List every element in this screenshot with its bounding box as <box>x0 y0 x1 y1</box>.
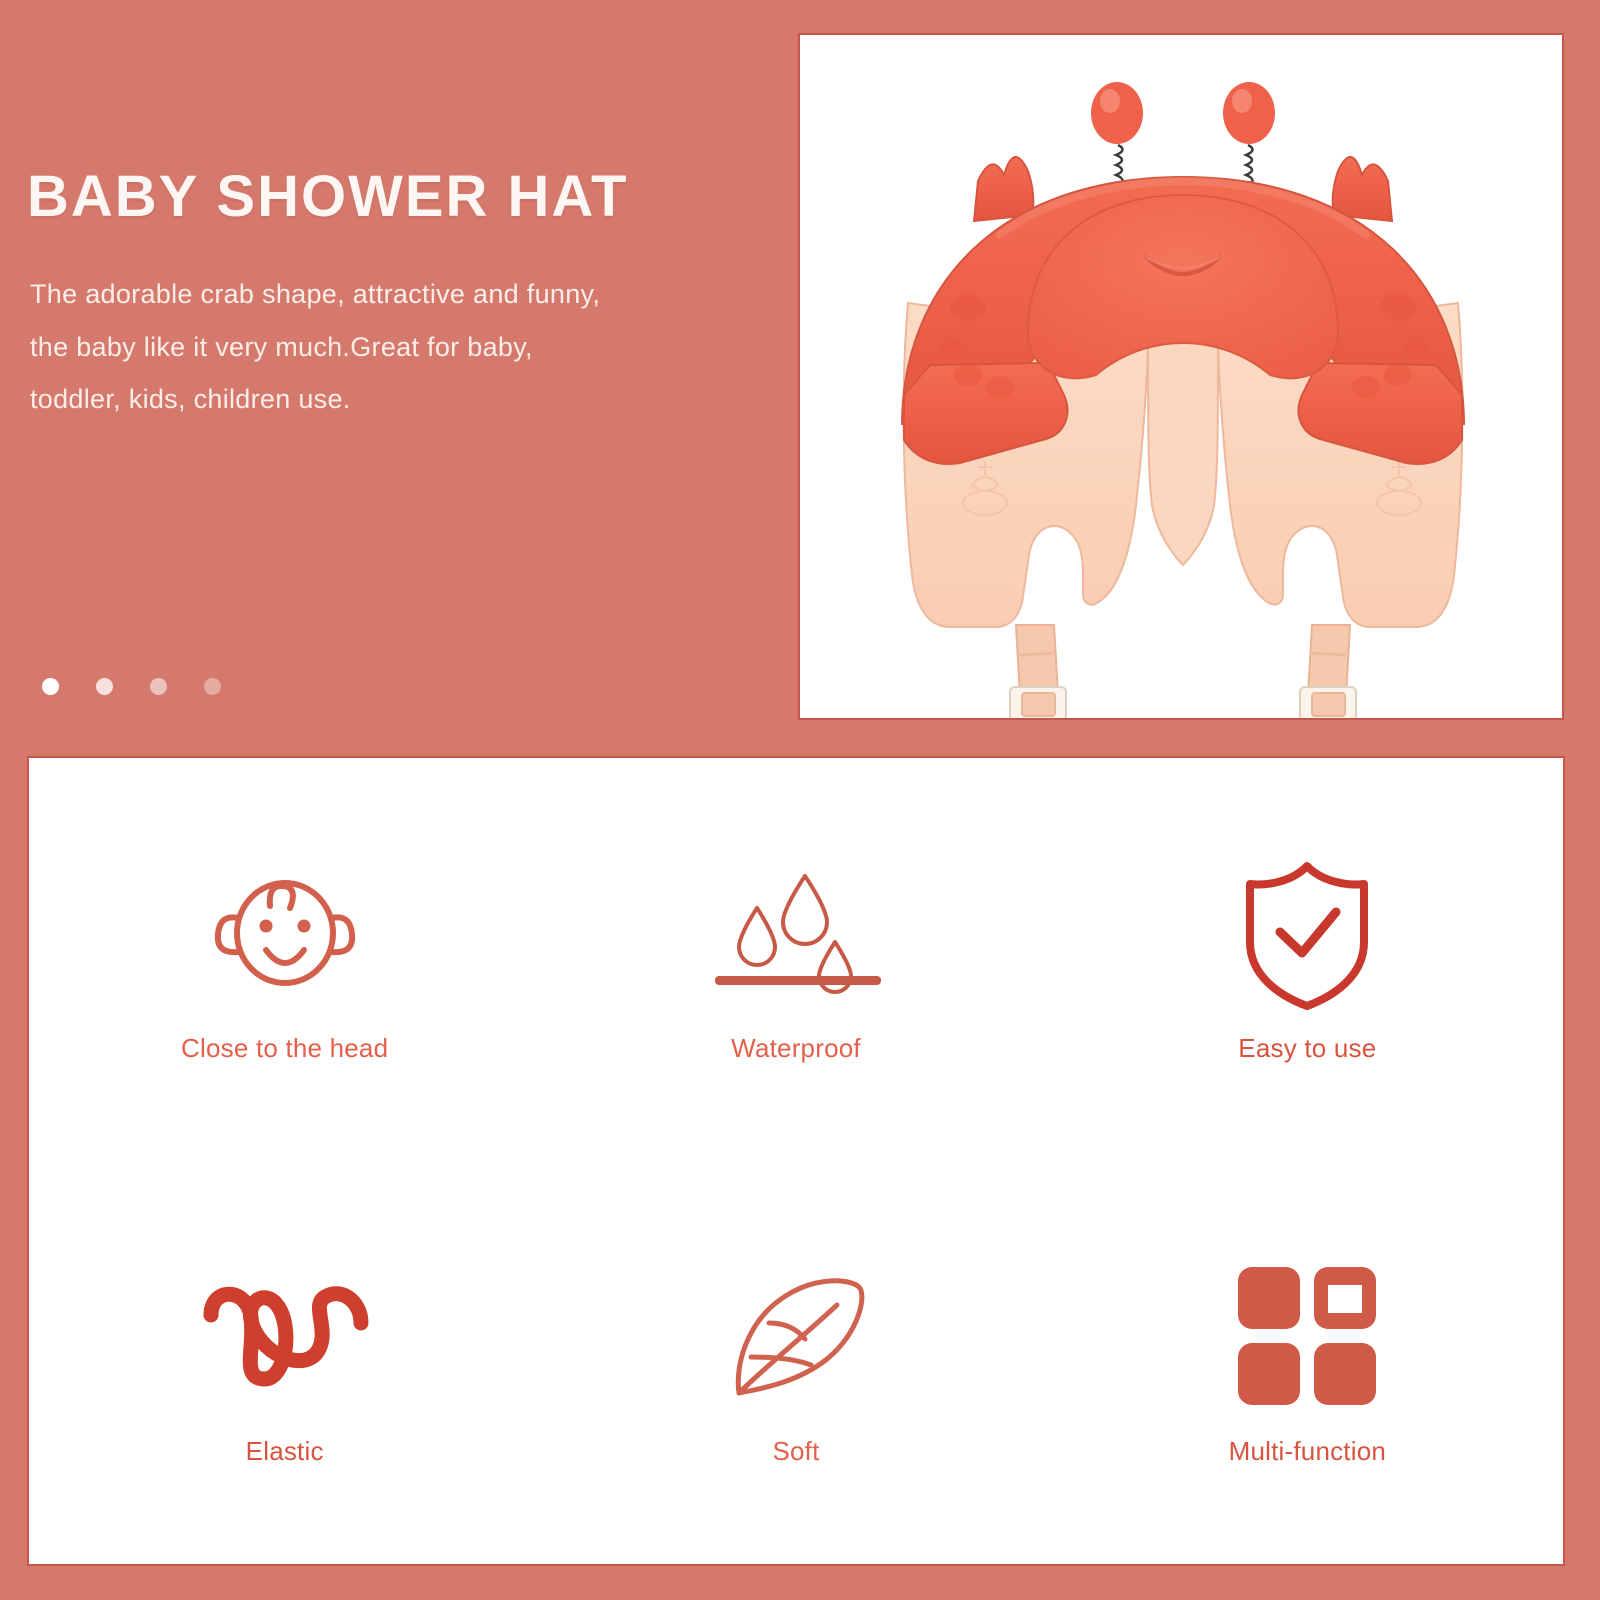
product-image-card[interactable] <box>798 33 1564 720</box>
feature-label: Elastic <box>246 1436 324 1467</box>
hero-description-line: toddler, kids, children use. <box>30 373 750 426</box>
hero-section: BABY SHOWER HAT The adorable crab shape,… <box>0 0 1600 745</box>
feature-label: Close to the head <box>181 1033 388 1064</box>
feature-multi-function: Multi-function <box>1052 1161 1563 1564</box>
features-grid: Close to the head Waterproof <box>29 758 1563 1564</box>
feature-label: Waterproof <box>731 1033 861 1064</box>
feature-elastic: Elastic <box>29 1161 540 1564</box>
feature-close-to-the-head: Close to the head <box>29 758 540 1161</box>
hero-description-line: The adorable crab shape, attractive and … <box>30 268 750 321</box>
baby-face-icon <box>200 856 370 1011</box>
shield-check-icon <box>1232 856 1382 1011</box>
carousel-dot-2[interactable] <box>96 678 113 695</box>
feature-soft: Soft <box>540 1161 1051 1564</box>
feature-label: Soft <box>772 1436 819 1467</box>
water-drops-icon <box>701 856 891 1011</box>
leaf-icon <box>711 1259 881 1414</box>
carousel-dot-4[interactable] <box>204 678 221 695</box>
hero-description: The adorable crab shape, attractive and … <box>30 268 750 426</box>
crab-shower-hat-illustration <box>800 35 1564 720</box>
hero-description-line: the baby like it very much.Great for bab… <box>30 321 750 374</box>
feature-waterproof: Waterproof <box>540 758 1051 1161</box>
right-buckle <box>1300 687 1356 720</box>
grid-squares-icon <box>1232 1259 1382 1414</box>
feature-label: Easy to use <box>1238 1033 1376 1064</box>
carousel-dot-1[interactable] <box>42 678 59 695</box>
left-buckle <box>1010 687 1066 720</box>
carousel-dot-3[interactable] <box>150 678 167 695</box>
hat-straps <box>1010 625 1356 720</box>
carousel-pagination[interactable] <box>42 678 221 695</box>
page-title: BABY SHOWER HAT <box>27 167 787 228</box>
spring-squiggle-icon <box>195 1259 375 1414</box>
feature-label: Multi-function <box>1229 1436 1386 1467</box>
features-panel: Close to the head Waterproof <box>27 756 1565 1566</box>
feature-easy-to-use: Easy to use <box>1052 758 1563 1161</box>
